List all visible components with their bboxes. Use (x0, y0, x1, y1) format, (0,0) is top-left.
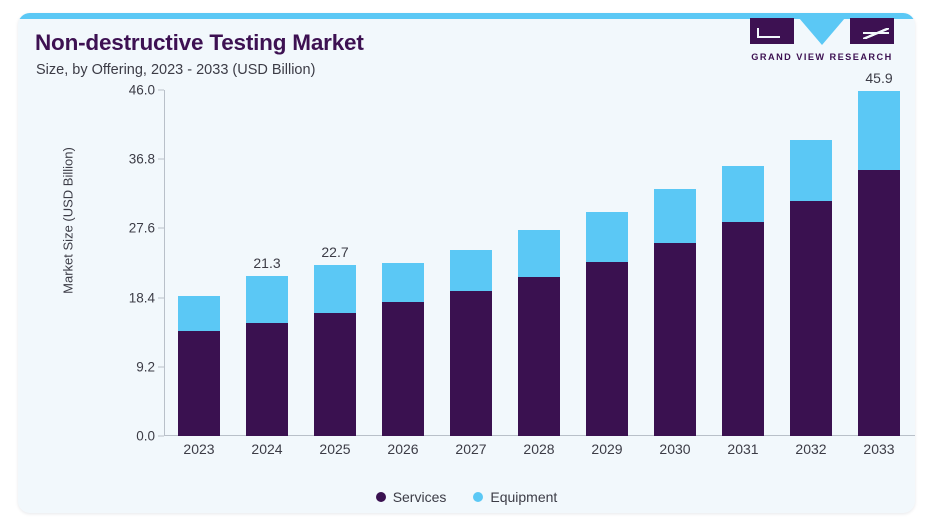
y-axis-tick-label: 27.6 (129, 221, 155, 236)
bar-segment-services[interactable] (722, 222, 764, 436)
bar-segment-services[interactable] (518, 277, 560, 436)
x-axis-tick-label: 2029 (591, 441, 622, 457)
bar-group[interactable] (722, 166, 764, 436)
bar-segment-equipment[interactable] (586, 212, 628, 262)
y-axis-tick-label: 9.2 (136, 359, 155, 374)
legend-item[interactable]: Services (376, 489, 447, 505)
bar-group[interactable] (586, 212, 628, 436)
bar-segment-equipment[interactable] (382, 263, 424, 302)
bar-segment-services[interactable] (178, 331, 220, 436)
bar-segment-equipment[interactable] (790, 140, 832, 200)
y-axis-tick-label: 18.4 (129, 290, 155, 305)
chart-card: Non-destructive Testing Market Size, by … (18, 13, 915, 513)
bar-value-label: 22.7 (321, 244, 348, 260)
bar-segment-services[interactable] (246, 323, 288, 436)
chart-legend: ServicesEquipment (18, 489, 915, 505)
x-axis-tick-label: 2023 (183, 441, 214, 457)
bar-group[interactable]: 45.9 (858, 91, 900, 436)
bar-group[interactable] (790, 140, 832, 436)
legend-color-dot (473, 492, 483, 502)
y-axis-tick-label: 36.8 (129, 152, 155, 167)
x-axis-tick-label: 2027 (455, 441, 486, 457)
legend-color-dot (376, 492, 386, 502)
bar-segment-services[interactable] (314, 313, 356, 436)
bar-segment-equipment[interactable] (722, 166, 764, 222)
bar-group[interactable] (382, 263, 424, 436)
plot-area: Market Size (USD Billion) 0.09.218.427.6… (18, 13, 915, 513)
x-axis-ticks: 2023202420252026202720282029203020312032… (165, 441, 913, 463)
bar-group[interactable]: 21.3 (246, 276, 288, 436)
bar-segment-equipment[interactable] (178, 296, 220, 331)
bar-segment-services[interactable] (654, 243, 696, 436)
chart-page: Non-destructive Testing Market Size, by … (0, 0, 933, 525)
bar-segment-services[interactable] (790, 201, 832, 436)
bar-segment-equipment[interactable] (858, 91, 900, 171)
bar-segment-services[interactable] (586, 262, 628, 437)
bar-group[interactable]: 22.7 (314, 265, 356, 436)
x-axis-tick-label: 2026 (387, 441, 418, 457)
bar-segment-services[interactable] (382, 302, 424, 436)
x-axis-tick-label: 2030 (659, 441, 690, 457)
bar-value-label: 45.9 (865, 70, 892, 86)
legend-label: Services (393, 489, 447, 505)
bar-group[interactable] (450, 250, 492, 436)
bar-value-label: 21.3 (253, 255, 280, 271)
bar-segment-services[interactable] (858, 170, 900, 436)
legend-item[interactable]: Equipment (473, 489, 557, 505)
x-axis-tick-label: 2033 (863, 441, 894, 457)
y-axis-title: Market Size (USD Billion) (61, 121, 76, 321)
bar-series-container: 21.322.745.9 (165, 90, 913, 436)
y-axis-tick-label: 46.0 (129, 83, 155, 98)
x-axis-tick-label: 2028 (523, 441, 554, 457)
x-axis-tick-label: 2024 (251, 441, 282, 457)
y-axis-ticks: 0.09.218.427.636.846.0 (98, 90, 164, 435)
x-axis-tick-label: 2032 (795, 441, 826, 457)
x-axis-tick-label: 2031 (727, 441, 758, 457)
legend-label: Equipment (490, 489, 557, 505)
bar-group[interactable] (178, 296, 220, 436)
x-axis-tick-label: 2025 (319, 441, 350, 457)
y-axis-tick-label: 0.0 (136, 429, 155, 444)
bar-segment-equipment[interactable] (518, 230, 560, 277)
bar-group[interactable] (518, 230, 560, 436)
bar-segment-equipment[interactable] (450, 250, 492, 291)
bar-group[interactable] (654, 189, 696, 436)
bar-segment-equipment[interactable] (314, 265, 356, 312)
bar-segment-equipment[interactable] (654, 189, 696, 242)
bar-segment-services[interactable] (450, 291, 492, 436)
bar-segment-equipment[interactable] (246, 276, 288, 323)
